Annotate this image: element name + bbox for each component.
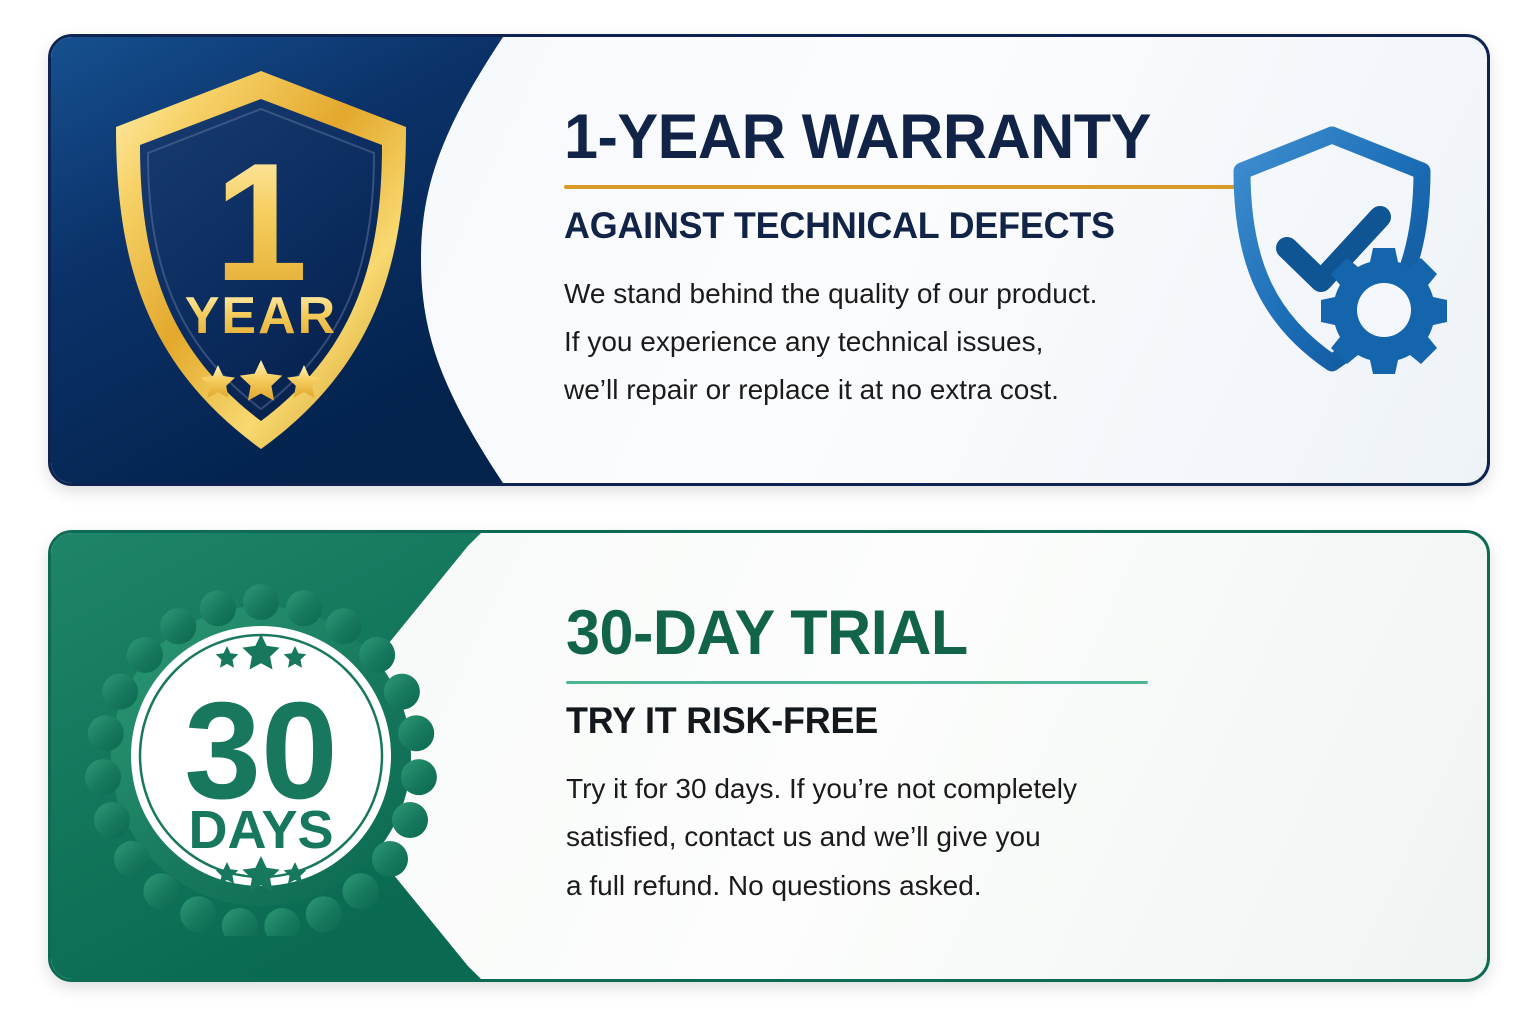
warranty-body-line-1: We stand behind the quality of our produ… (564, 270, 1264, 318)
warranty-body-copy: We stand behind the quality of our produ… (564, 270, 1264, 414)
warranty-subheadline: AGAINST TECHNICAL DEFECTS (564, 207, 1243, 246)
trial-body-line-3: a full refund. No questions asked. (566, 862, 1166, 910)
warranty-gold-divider (564, 185, 1240, 189)
warranty-text-block: 1-YEAR WARRANTY AGAINST TECHNICAL DEFECT… (564, 37, 1264, 483)
trial-card: 30 DAYS 30-DAY TRIAL TRY IT RISK-FREE Tr… (48, 530, 1490, 982)
trial-headline: 30-DAY TRIAL (566, 602, 1148, 665)
warranty-body-line-3: we’ll repair or replace it at no extra c… (564, 366, 1264, 414)
warranty-card: 1 YEAR 1-YEAR WARRANTY AGAINST TECHNICAL… (48, 34, 1490, 486)
trial-green-panel (51, 533, 521, 979)
trial-text-block: 30-DAY TRIAL TRY IT RISK-FREE Try it for… (566, 533, 1166, 979)
guarantee-banner-stage: 1 YEAR 1-YEAR WARRANTY AGAINST TECHNICAL… (0, 0, 1536, 1024)
trial-green-divider (566, 681, 1148, 684)
trial-body-copy: Try it for 30 days. If you’re not comple… (566, 765, 1166, 909)
warranty-headline: 1-YEAR WARRANTY (564, 106, 1243, 169)
trial-body-line-2: satisfied, contact us and we’ll give you (566, 813, 1166, 861)
trial-subheadline: TRY IT RISK-FREE (566, 702, 1148, 741)
warranty-navy-panel (51, 37, 521, 483)
gear-icon (1321, 248, 1447, 374)
trial-body-line-1: Try it for 30 days. If you’re not comple… (566, 765, 1166, 813)
warranty-body-line-2: If you experience any technical issues, (564, 318, 1264, 366)
